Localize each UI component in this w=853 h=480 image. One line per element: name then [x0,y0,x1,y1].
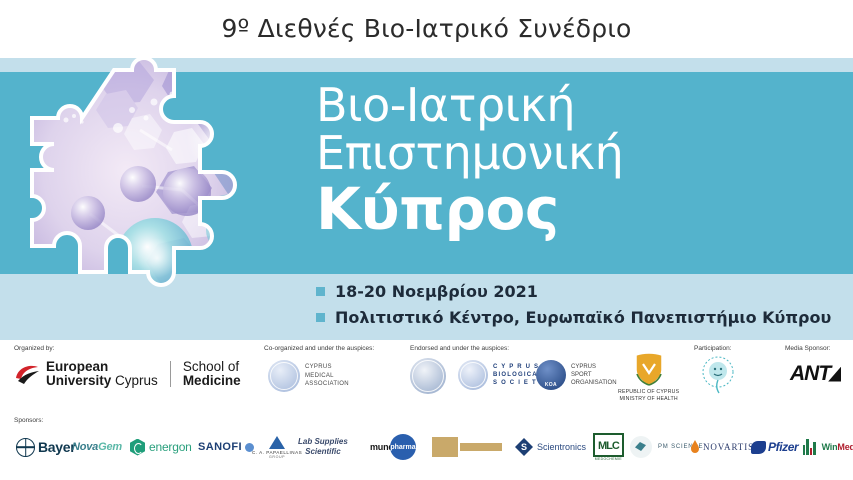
label-endorsed: Endorsed and under the auspices: [410,345,509,352]
label-co-organized: Co-organized and under the auspices: [264,345,374,352]
euc-line1: European [46,359,108,374]
tan-block-icon [432,437,458,457]
event-info-list: 18-20 Νοεμβρίου 2021 Πολιτιστικό Κέντρο,… [316,282,836,334]
bayer-cross-icon [16,438,35,457]
cyprus-coat-of-arms-icon [634,352,664,388]
tan-bar-icon [460,443,502,451]
event-date-row: 18-20 Νοεμβρίου 2021 [316,282,836,301]
event-date: 18-20 Νοεμβρίου 2021 [335,282,538,301]
cma-l2: MEDICAL [305,372,349,380]
winmedica-text-b: Medica [837,442,853,452]
euc-line2-bold: University [46,373,111,388]
puzzle-molecule-graphic [22,58,297,340]
cso-l1: CYPRUS [571,363,617,371]
novagem-text-b: Gem [98,441,122,453]
sponsor-tan-logo[interactable] [432,433,502,461]
conference-poster: 9º Διεθνές Βιο-Ιατρικό Συνέδριο [0,0,853,480]
label-participation: Participation: [694,345,732,352]
scientronics-diamond-icon [515,438,533,456]
logo-cyprus-smile[interactable] [700,355,736,395]
sponsor-novagem[interactable]: NovaGem [72,433,122,461]
novartis-flame-icon [690,440,700,454]
event-venue: Πολιτιστικό Κέντρο, Ευρωπαϊκό Πανεπιστήμ… [335,308,831,327]
koa-seal-icon: ΚΟΑ [536,360,566,390]
moh-wordmark: REPUBLIC OF CYPRUS MINISTRY OF HEALTH [618,389,679,403]
smile-balloon-icon [700,355,736,395]
logo-endorsed-seal[interactable] [410,358,446,394]
sponsor-medochemie[interactable]: MLC MEDOCHEMIE [593,433,624,461]
sponsor-mundipharma[interactable]: mundi pharma [370,433,416,461]
logo-european-university-cyprus[interactable]: European University Cyprus School of Med… [14,360,241,388]
euc-swoosh-icon [14,362,40,386]
euc-wordmark: European University Cyprus [46,360,158,388]
headline-line-1: Βιο-Ιατρική [316,82,836,128]
som-line1: School of [183,360,241,374]
headline-line-2: Επιστημονική [316,130,836,176]
sponsor-winmedica[interactable]: WinMedica [803,433,853,461]
label-media-sponsor: Media Sponsor: [785,345,831,352]
cso-l2: SPORT [571,371,617,379]
divider [170,361,171,387]
moh-l1: REPUBLIC OF CYPRUS [618,389,679,396]
label-sponsors: Sponsors: [14,417,43,424]
square-bullet-icon [316,287,325,296]
logo-cyprus-sport-organisation[interactable]: ΚΟΑ CYPRUS SPORT ORGANISATION [536,360,617,390]
partners-strip: Organized by: Co-organized and under the… [0,340,853,415]
pfizer-wordmark: Pfizer [768,440,798,454]
papaellinas-sub: GROUP [269,455,285,459]
cma-l1: CYPRUS [305,363,349,371]
ant1-wordmark: ANT [790,362,830,386]
medochemie-sub: MEDOCHEMIE [595,457,622,461]
sponsors-strip: Sponsors: Bayer NovaGem energon SANOFI [0,415,853,480]
lab-supplies-l1: Lab Supplies [298,437,348,447]
winmedica-bars-icon [803,439,816,455]
cso-wordmark: CYPRUS SPORT ORGANISATION [571,363,617,387]
koa-mark-text: ΚΟΑ [545,382,557,388]
winmedica-text-a: Win [822,442,838,452]
sponsor-bayer[interactable]: Bayer [16,433,75,461]
logo-ant1[interactable]: ANT [790,362,841,386]
cma-seal-icon [268,360,300,392]
logo-cyprus-biological-society[interactable]: C Y P R U S BIOLOGICAL S O C I E T Y [458,360,545,390]
lab-supplies-l2: Scientific [298,447,348,457]
logo-cyprus-medical-association[interactable]: CYPRUS MEDICAL ASSOCIATION [268,360,349,392]
square-bullet-icon [316,313,325,322]
sponsor-sanofi[interactable]: SANOFI [198,433,254,461]
novagem-text-a: Nova [72,441,98,453]
sponsor-logo-row: Bayer NovaGem energon SANOFI C. A. PAPAE… [0,433,853,473]
energon-wordmark: energon [149,440,192,454]
sponsor-energon[interactable]: energon [130,433,192,461]
cbs-seal-icon [458,360,488,390]
novagem-wordmark: NovaGem [72,441,122,453]
winmedica-wordmark: WinMedica [822,442,853,452]
school-of-medicine-wordmark: School of Medicine [183,360,241,388]
bayer-wordmark: Bayer [38,439,75,455]
sanofi-wordmark: SANOFI [198,441,242,453]
sponsor-novartis[interactable]: NOVARTIS [690,433,754,461]
novartis-wordmark: NOVARTIS [703,442,754,452]
hero-headline: Βιο-Ιατρική Επιστημονική Κύπρος [316,82,836,238]
papaellinas-triangle-icon [269,436,285,449]
sponsor-ca-papaellinas[interactable]: C. A. PAPAELLINAS GROUP [252,433,302,461]
sponsor-lab-supplies-scientific[interactable]: Lab Supplies Scientific [298,433,348,461]
lab-supplies-wordmark: Lab Supplies Scientific [298,437,348,457]
som-line2: Medicine [183,374,241,388]
cma-wordmark: CYPRUS MEDICAL ASSOCIATION [305,363,349,388]
sponsor-pfizer[interactable]: Pfizer [751,433,798,461]
pm-science-leaf-icon [630,436,652,458]
mlc-box-icon: MLC [593,433,624,457]
pfizer-oval-icon [751,441,766,454]
energon-hex-icon [130,439,145,456]
logo-ministry-of-health[interactable]: REPUBLIC OF CYPRUS MINISTRY OF HEALTH [618,352,679,403]
mundipharma-circle-icon: pharma [390,434,416,460]
scientronics-wordmark: Scientronics [537,442,586,452]
sponsor-scientronics[interactable]: Scientronics [515,433,586,461]
moh-l2: MINISTRY OF HEALTH [618,396,679,403]
mlc-wordmark: MLC [598,440,619,452]
headline-line-3: Κύπρος [316,180,836,238]
event-venue-row: Πολιτιστικό Κέντρο, Ευρωπαϊκό Πανεπιστήμ… [316,308,836,327]
endorsed-seal-icon [410,358,446,394]
euc-line2-thin: Cyprus [115,373,158,388]
page-title: 9º Διεθνές Βιο-Ιατρικό Συνέδριο [0,14,853,43]
cma-l3: ASSOCIATION [305,380,349,388]
cso-l3: ORGANISATION [571,379,617,387]
label-organized-by: Organized by: [14,345,54,352]
